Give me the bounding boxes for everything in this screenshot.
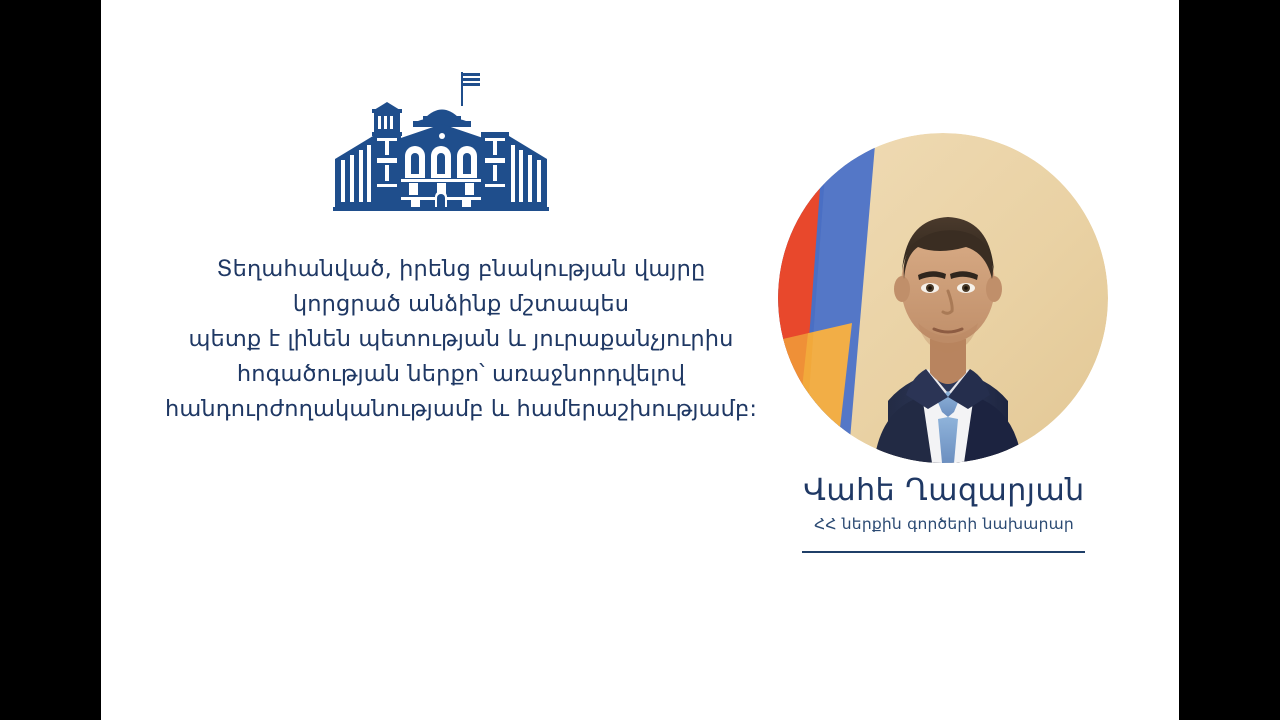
portrait-avatar: [778, 133, 1108, 463]
slide-stage: Տեղահանված, իրենց բնակության վայրը կորցր…: [0, 0, 1280, 720]
quote-text: Տեղահանված, իրենց բնակության վայրը կորցր…: [131, 252, 791, 427]
letterbox-bar-left: [0, 0, 101, 720]
speaker-role: ՀՀ ներքին գործերի նախարար: [791, 512, 1097, 536]
speaker-name: Վահե Ղազարյան: [791, 472, 1097, 510]
armenian-government-building-emblem-icon: [329, 66, 553, 226]
speaker-caption: Վահե Ղազարյան ՀՀ ներքին գործերի նախարար: [791, 472, 1097, 536]
caption-divider-rule: [802, 551, 1085, 553]
letterbox-bar-right: [1179, 0, 1280, 720]
slide-canvas: Տեղահանված, իրենց բնակության վայրը կորցր…: [101, 0, 1179, 720]
